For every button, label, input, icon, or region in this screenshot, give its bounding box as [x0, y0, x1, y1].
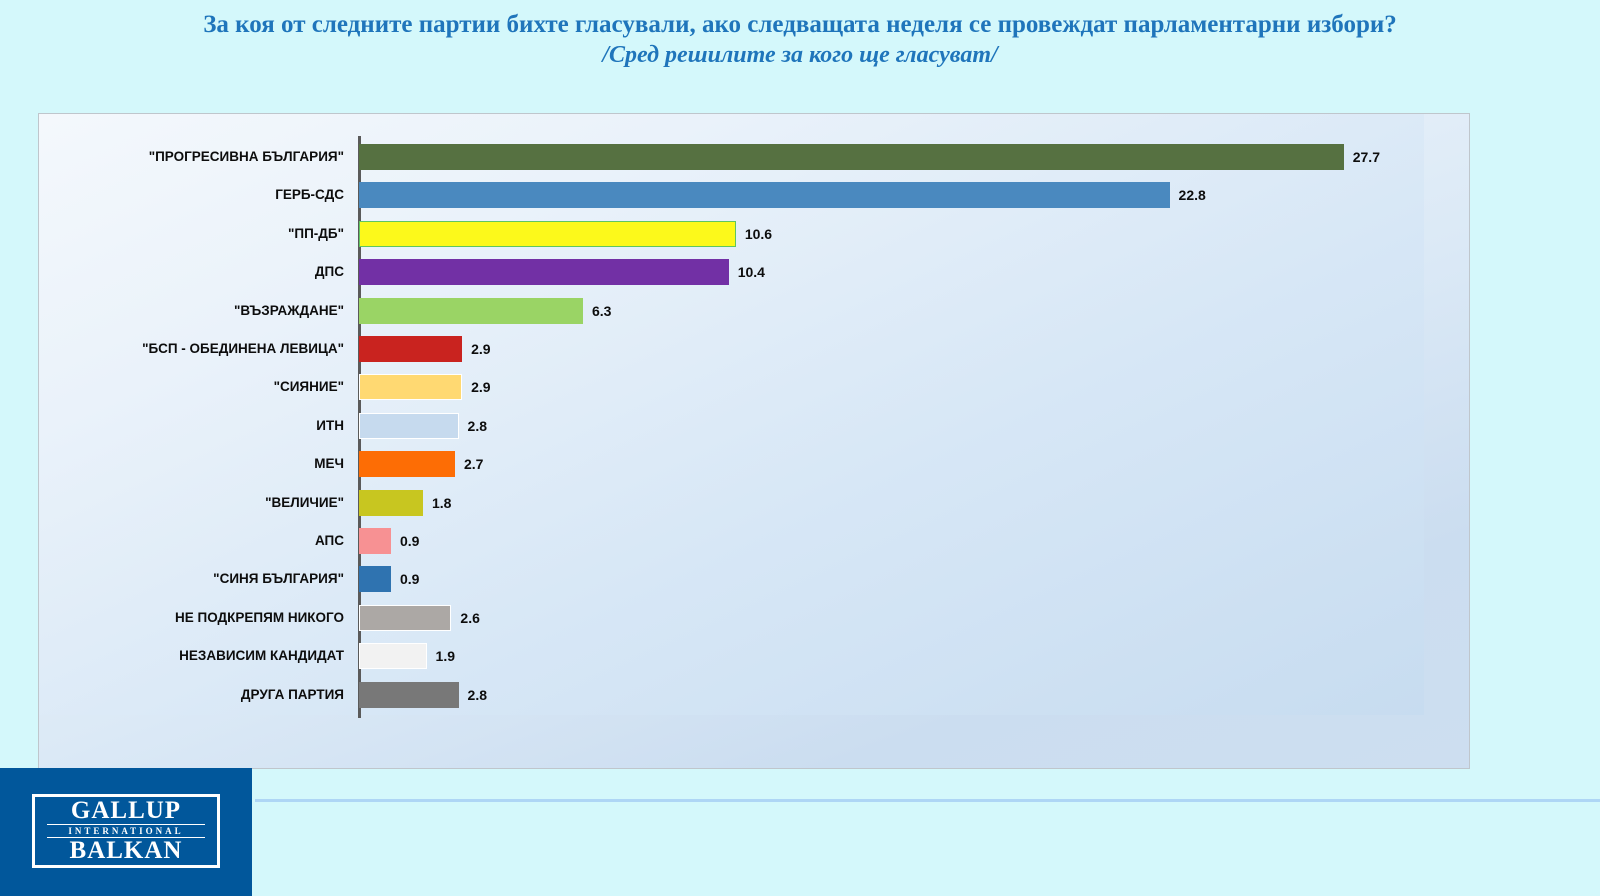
page-title: За коя от следните партии бихте гласувал… — [0, 10, 1600, 40]
chart-title-block: За коя от следните партии бихте гласувал… — [0, 10, 1600, 70]
category-label: "ВЪЗРАЖДАНЕ" — [39, 298, 344, 324]
table-row: "БСП - ОБЕДИНЕНА ЛЕВИЦА"2.9 — [39, 336, 1424, 374]
table-row: НЕЗАВИСИМ КАНДИДАТ1.9 — [39, 643, 1424, 681]
bar-value-label: 10.6 — [745, 221, 772, 247]
bar-value-label: 2.7 — [464, 451, 483, 477]
table-row: ИТН2.8 — [39, 413, 1424, 451]
bar — [359, 413, 459, 439]
bar — [359, 374, 462, 400]
category-label: НЕ ПОДКРЕПЯМ НИКОГО — [39, 605, 344, 631]
bar-value-label: 2.9 — [471, 336, 490, 362]
bar — [359, 182, 1170, 208]
category-label: МЕЧ — [39, 451, 344, 477]
bar-value-label: 27.7 — [1353, 144, 1380, 170]
category-label: ДРУГА ПАРТИЯ — [39, 682, 344, 708]
logo-text-gallup: GALLUP — [71, 799, 181, 823]
chart-panel: "ПРОГРЕСИВНА БЪЛГАРИЯ"27.7ГЕРБ-СДС22.8"П… — [38, 113, 1470, 769]
category-label: "ПП-ДБ" — [39, 221, 344, 247]
bar — [359, 490, 423, 516]
bar-value-label: 10.4 — [738, 259, 765, 285]
table-row: "ВЕЛИЧИЕ"1.8 — [39, 490, 1424, 528]
bar — [359, 221, 736, 247]
bar — [359, 451, 455, 477]
bar-value-label: 2.8 — [468, 682, 487, 708]
category-label: АПС — [39, 528, 344, 554]
bar-value-label: 0.9 — [400, 528, 419, 554]
logo-text-balkan: BALKAN — [70, 839, 183, 863]
table-row: ДРУГА ПАРТИЯ2.8 — [39, 682, 1424, 720]
plot-area: "ПРОГРЕСИВНА БЪЛГАРИЯ"27.7ГЕРБ-СДС22.8"П… — [39, 114, 1424, 715]
category-label: ДПС — [39, 259, 344, 285]
category-label: ГЕРБ-СДС — [39, 182, 344, 208]
category-label: "СИЯНИЕ" — [39, 374, 344, 400]
table-row: ДПС10.4 — [39, 259, 1424, 297]
table-row: ГЕРБ-СДС22.8 — [39, 182, 1424, 220]
table-row: МЕЧ2.7 — [39, 451, 1424, 489]
category-label: ИТН — [39, 413, 344, 439]
footer-divider — [255, 799, 1600, 802]
table-row: "ПРОГРЕСИВНА БЪЛГАРИЯ"27.7 — [39, 144, 1424, 182]
category-label: "ПРОГРЕСИВНА БЪЛГАРИЯ" — [39, 144, 344, 170]
bar — [359, 144, 1344, 170]
table-row: "СИЯНИЕ"2.9 — [39, 374, 1424, 412]
bar-value-label: 22.8 — [1179, 182, 1206, 208]
bar-value-label: 2.8 — [468, 413, 487, 439]
bar — [359, 566, 391, 592]
bar-value-label: 2.6 — [460, 605, 479, 631]
bar — [359, 605, 451, 631]
table-row: "СИНЯ БЪЛГАРИЯ"0.9 — [39, 566, 1424, 604]
category-label: НЕЗАВИСИМ КАНДИДАТ — [39, 643, 344, 669]
logo-text-international: INTERNATIONAL — [47, 824, 205, 838]
bar — [359, 682, 459, 708]
category-label: "ВЕЛИЧИЕ" — [39, 490, 344, 516]
table-row: АПС0.9 — [39, 528, 1424, 566]
bar-value-label: 1.8 — [432, 490, 451, 516]
gallup-logo: GALLUP INTERNATIONAL BALKAN — [0, 768, 252, 896]
table-row: НЕ ПОДКРЕПЯМ НИКОГО2.6 — [39, 605, 1424, 643]
logo-frame: GALLUP INTERNATIONAL BALKAN — [32, 794, 220, 868]
bar-value-label: 1.9 — [436, 643, 455, 669]
bar-value-label: 2.9 — [471, 374, 490, 400]
bar — [359, 259, 729, 285]
category-label: "СИНЯ БЪЛГАРИЯ" — [39, 566, 344, 592]
bar — [359, 643, 427, 669]
category-label: "БСП - ОБЕДИНЕНА ЛЕВИЦА" — [39, 336, 344, 362]
page-subtitle: /Сред решилите за кого ще гласуват/ — [0, 40, 1600, 70]
table-row: "ПП-ДБ"10.6 — [39, 221, 1424, 259]
bar-value-label: 6.3 — [592, 298, 611, 324]
bar — [359, 336, 462, 362]
table-row: "ВЪЗРАЖДАНЕ"6.3 — [39, 298, 1424, 336]
bar-value-label: 0.9 — [400, 566, 419, 592]
bar — [359, 298, 583, 324]
bar — [359, 528, 391, 554]
